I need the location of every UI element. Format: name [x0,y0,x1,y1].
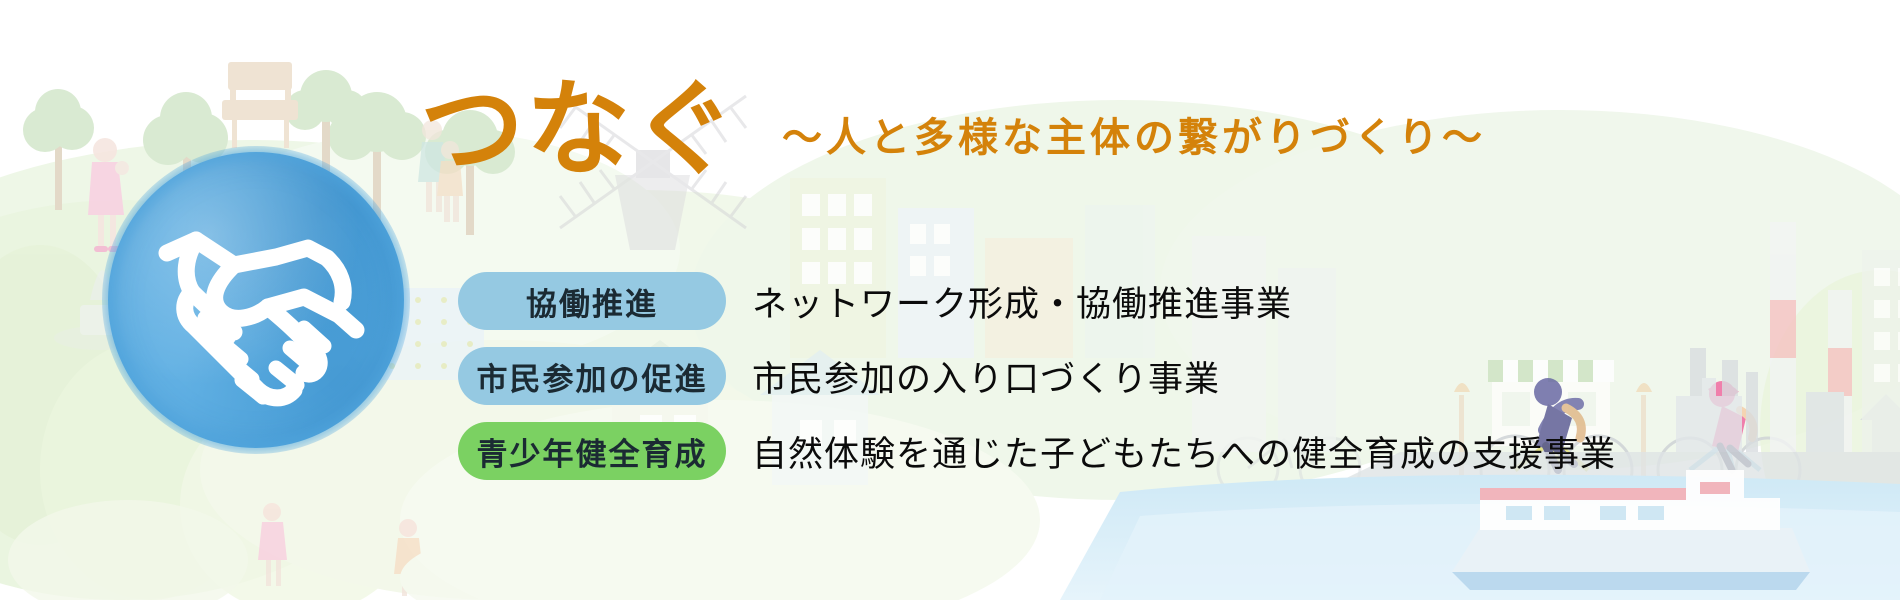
headline: つなぐ ～人と多様な主体の繋がりづくり～ [420,78,1486,182]
page-title: つなぐ [420,78,738,182]
banner-content: つなぐ ～人と多様な主体の繋がりづくり～ 協働推進 ネットワーク形成・協働推進事… [0,0,1900,600]
list-item: 青少年健全育成 自然体験を通じた子どもたちへの健全育成の支援事業 [458,422,1616,480]
list-item: 市民参加の促進 市民参加の入り口づくり事業 [458,347,1616,405]
list-item-description: ネットワーク形成・協働推進事業 [752,276,1292,327]
status-badge: 青少年健全育成 [458,422,726,480]
page-subtitle: ～人と多様な主体の繋がりづくり～ [782,105,1486,163]
status-badge: 協働推進 [458,272,726,330]
tsunagu-banner: つなぐ ～人と多様な主体の繋がりづくり～ 協働推進 ネットワーク形成・協働推進事… [0,0,1900,600]
list-item-description: 自然体験を通じた子どもたちへの健全育成の支援事業 [752,426,1616,477]
handshake-icon [108,152,404,448]
program-list: 協働推進 ネットワーク形成・協働推進事業 市民参加の促進 市民参加の入り口づくり… [458,272,1616,480]
list-item: 協働推進 ネットワーク形成・協働推進事業 [458,272,1616,330]
status-badge: 市民参加の促進 [458,347,726,405]
list-item-description: 市民参加の入り口づくり事業 [752,351,1220,402]
